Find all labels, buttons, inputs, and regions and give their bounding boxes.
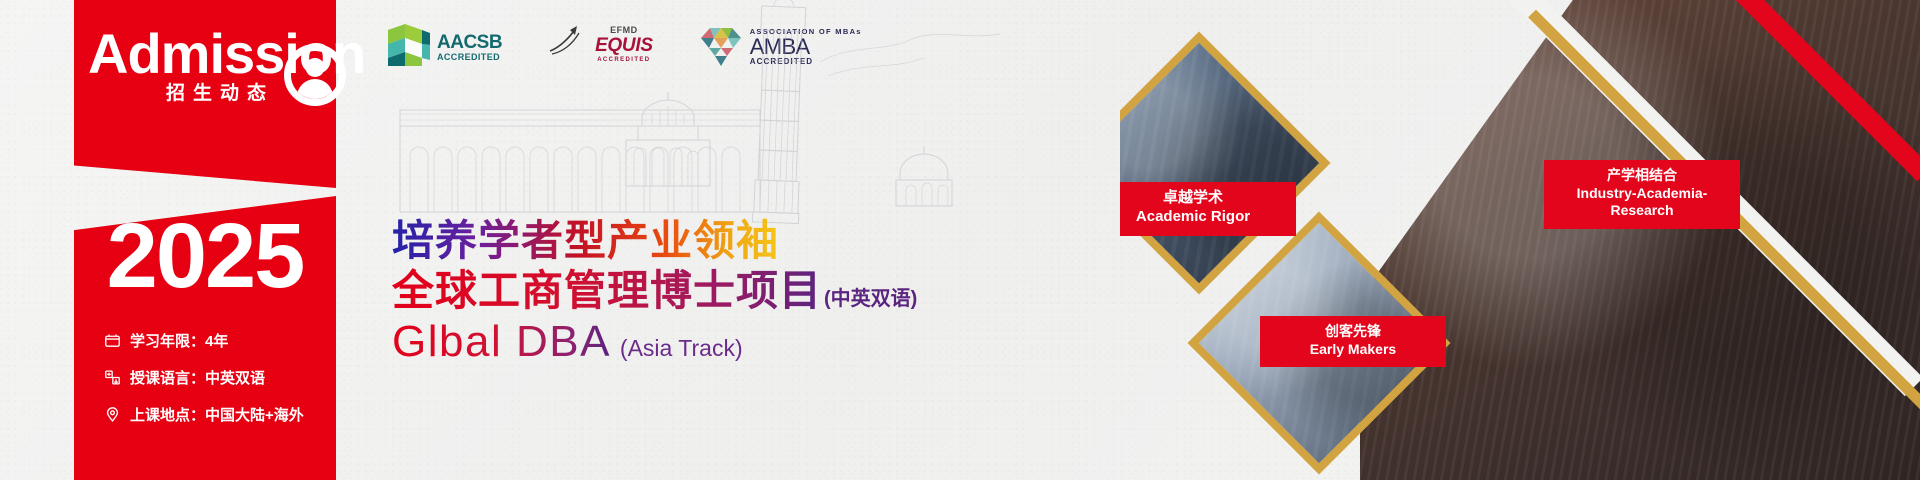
tag-early-makers-cn: 创客先锋 <box>1276 323 1430 341</box>
meta-row: 上课地点：中国大陆+海外 <box>104 404 354 425</box>
tag-academic-rigor-cn: 卓越学术 <box>1120 189 1280 208</box>
program-title-en-note: (Asia Track) <box>620 335 743 362</box>
meta-label: 学习年限：4年 <box>130 330 228 351</box>
tag-academic-rigor-en: Academic Rigor <box>1120 208 1280 227</box>
tag-academic-rigor: 卓越学术 Academic Rigor <box>1120 182 1296 236</box>
language-icon <box>104 369 121 386</box>
photo-collage: 卓越学术 Academic Rigor 创客先锋 Early Makers 产学… <box>1120 0 1920 480</box>
admission-logo: Admission 招生动态 <box>88 26 356 108</box>
tag-industry-cn: 产学相结合 <box>1560 167 1724 185</box>
meta-row: 学习年限：4年 <box>104 330 354 351</box>
admission-wordmark: Admission <box>88 26 365 82</box>
meta-label: 授课语言：中英双语 <box>130 367 265 388</box>
tag-industry-en-line1: Industry-Academia- <box>1560 185 1724 203</box>
meta-row: 授课语言：中英双语 <box>104 367 354 388</box>
program-title-en: Glbal DBA <box>392 320 611 364</box>
program-title-en-row: Glbal DBA (Asia Track) <box>392 320 743 364</box>
tag-industry-en-line2: Research <box>1560 202 1724 220</box>
program-title-cn-row: 全球工商管理博士项目 (中英双语) <box>392 268 917 314</box>
year-label: 2025 <box>74 210 336 302</box>
program-title-cn-note: (中英双语) <box>824 282 917 311</box>
pisa-lineart-illustration <box>380 0 1040 250</box>
calendar-icon <box>104 332 121 349</box>
headline-tagline: 培养学者型产业领袖 <box>392 218 779 263</box>
meta-label: 上课地点：中国大陆+海外 <box>130 404 304 425</box>
location-pin-icon <box>104 406 121 423</box>
tag-early-makers-en: Early Makers <box>1276 341 1430 359</box>
program-title-cn: 全球工商管理博士项目 <box>392 268 822 314</box>
tag-early-makers: 创客先锋 Early Makers <box>1260 316 1446 367</box>
tag-industry-academia-research: 产学相结合 Industry-Academia- Research <box>1544 160 1740 229</box>
admission-banner: Admission 招生动态 2025 学习年限：4年 授课语言：中英双语 <box>0 0 1920 480</box>
program-meta-list: 学习年限：4年 授课语言：中英双语 上课地点：中国大陆+海外 <box>104 330 354 441</box>
